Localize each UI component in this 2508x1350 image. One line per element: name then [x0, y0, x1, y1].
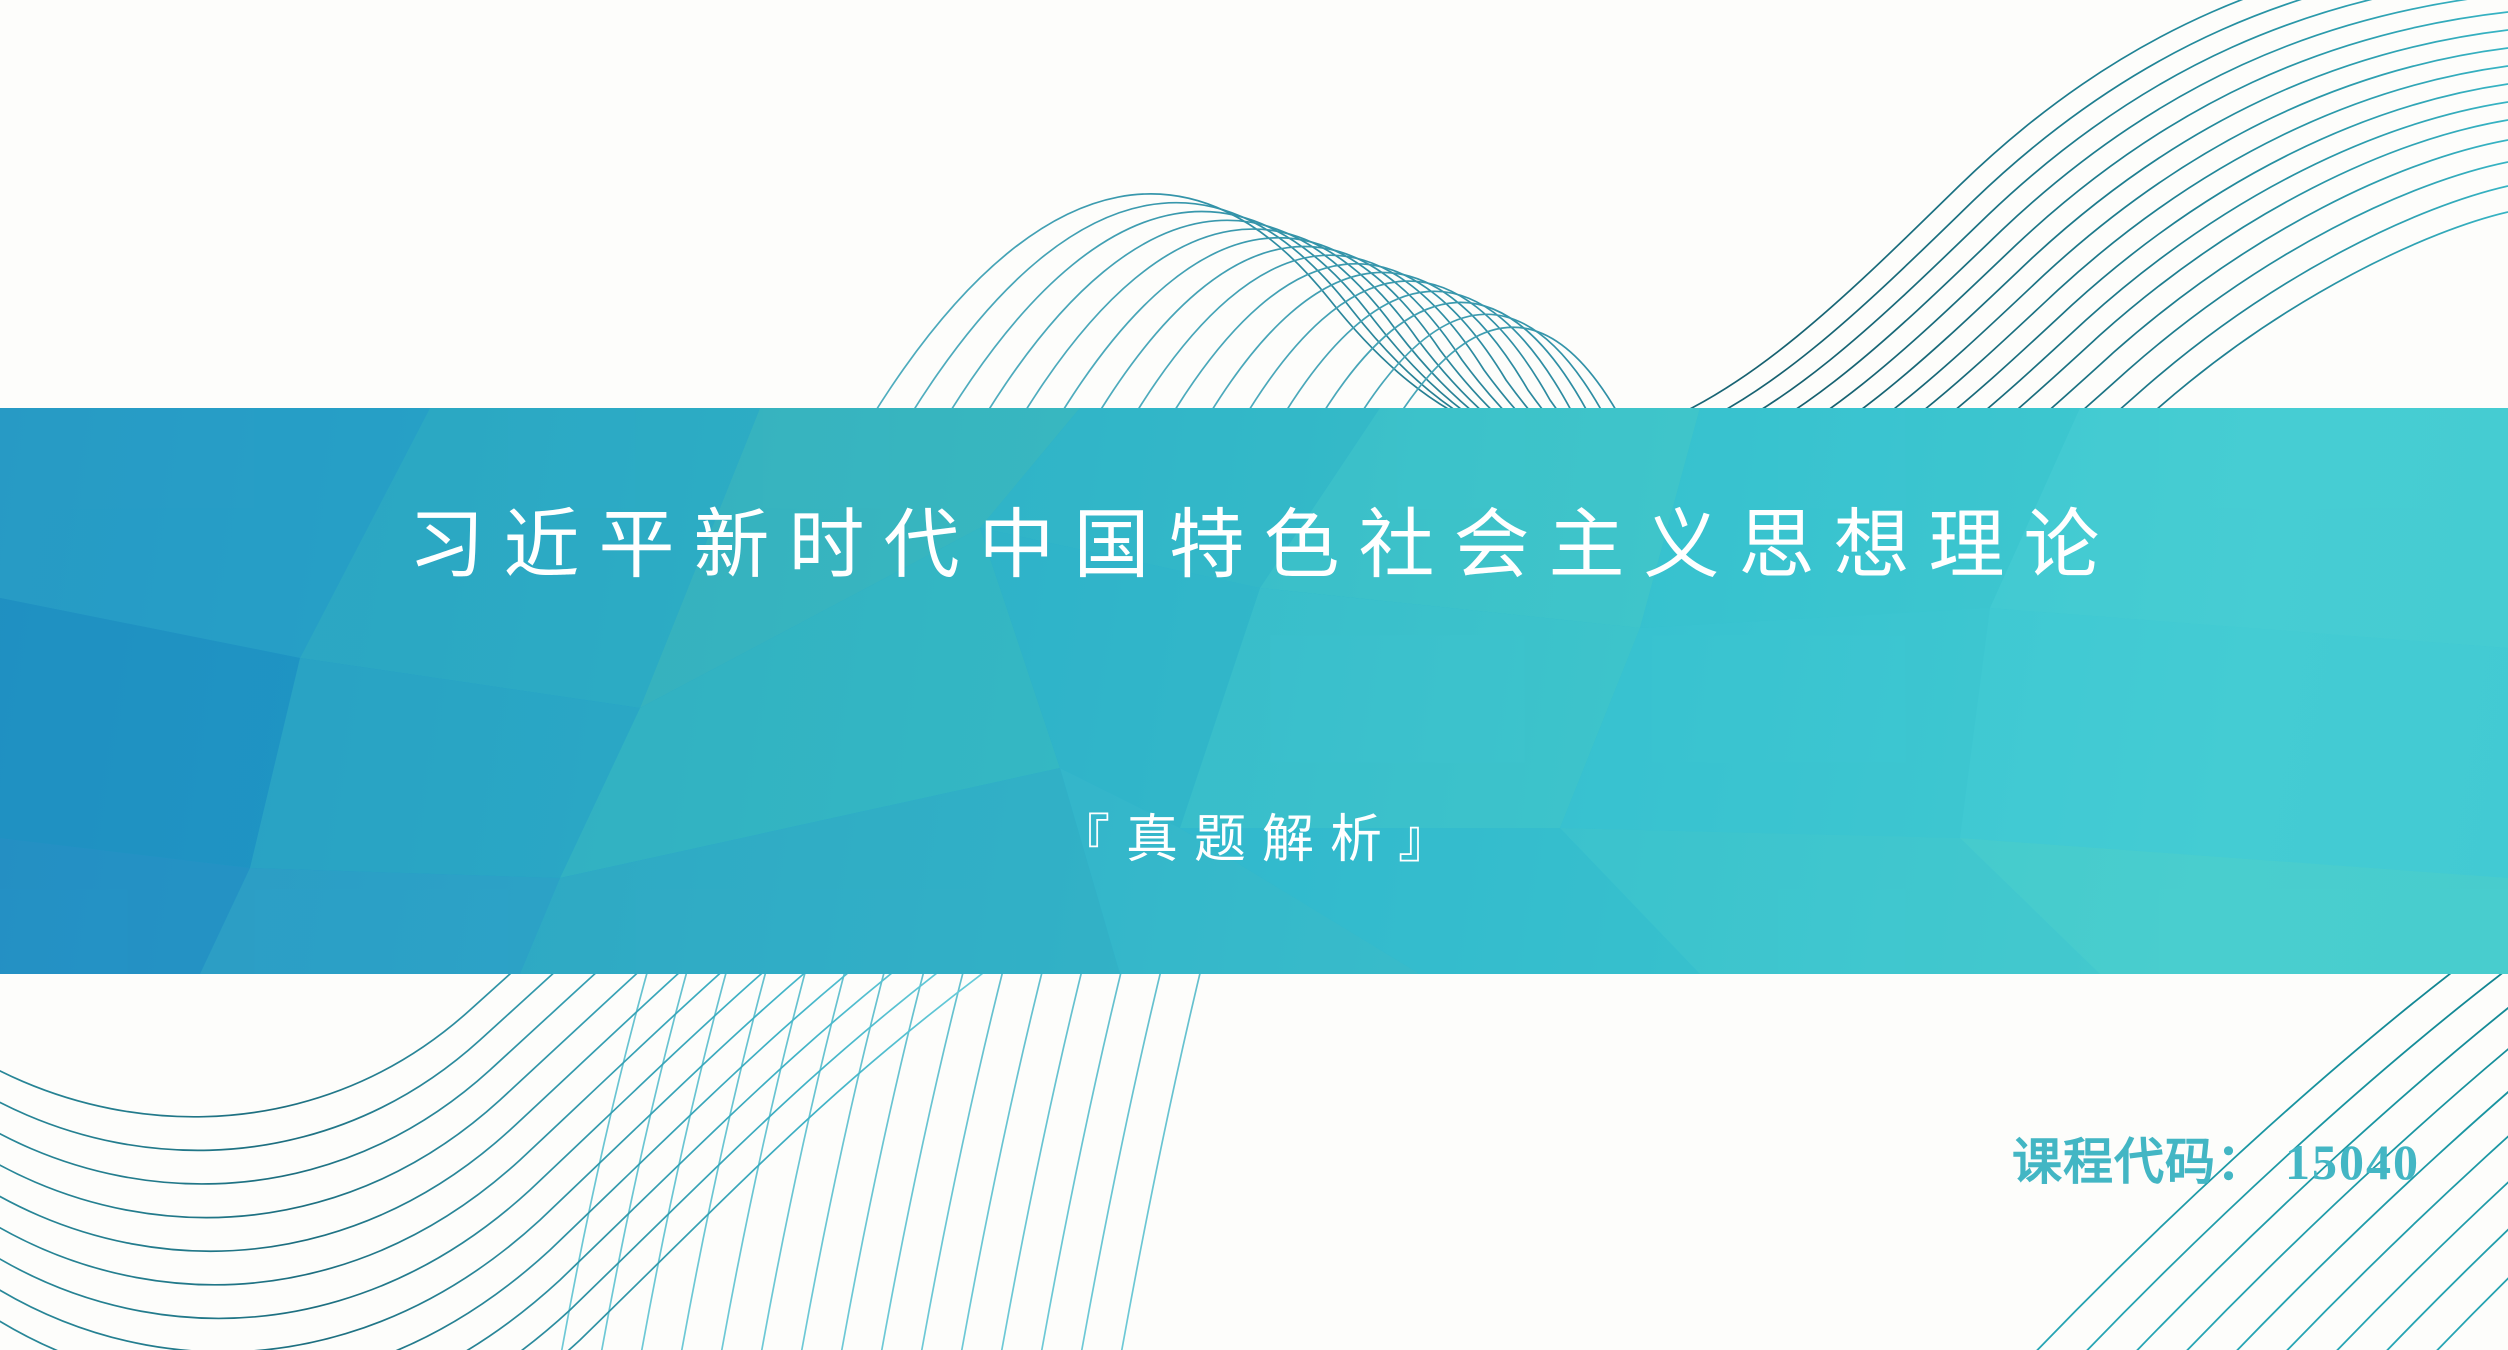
course-code-label: 课程代码：	[2012, 1134, 2267, 1190]
course-code: 课程代码：15040	[2012, 1130, 2420, 1194]
title-banner	[0, 408, 2508, 974]
slide-subtitle: 『真题解析』	[0, 806, 2508, 876]
low-poly-texture	[0, 408, 2508, 974]
slide-title: 习近平新时代中国特色社会主义思想理论	[0, 498, 2508, 594]
presentation-slide: 习近平新时代中国特色社会主义思想理论 『真题解析』 课程代码：15040	[0, 0, 2508, 1350]
course-code-value: 15040	[2285, 1134, 2420, 1190]
